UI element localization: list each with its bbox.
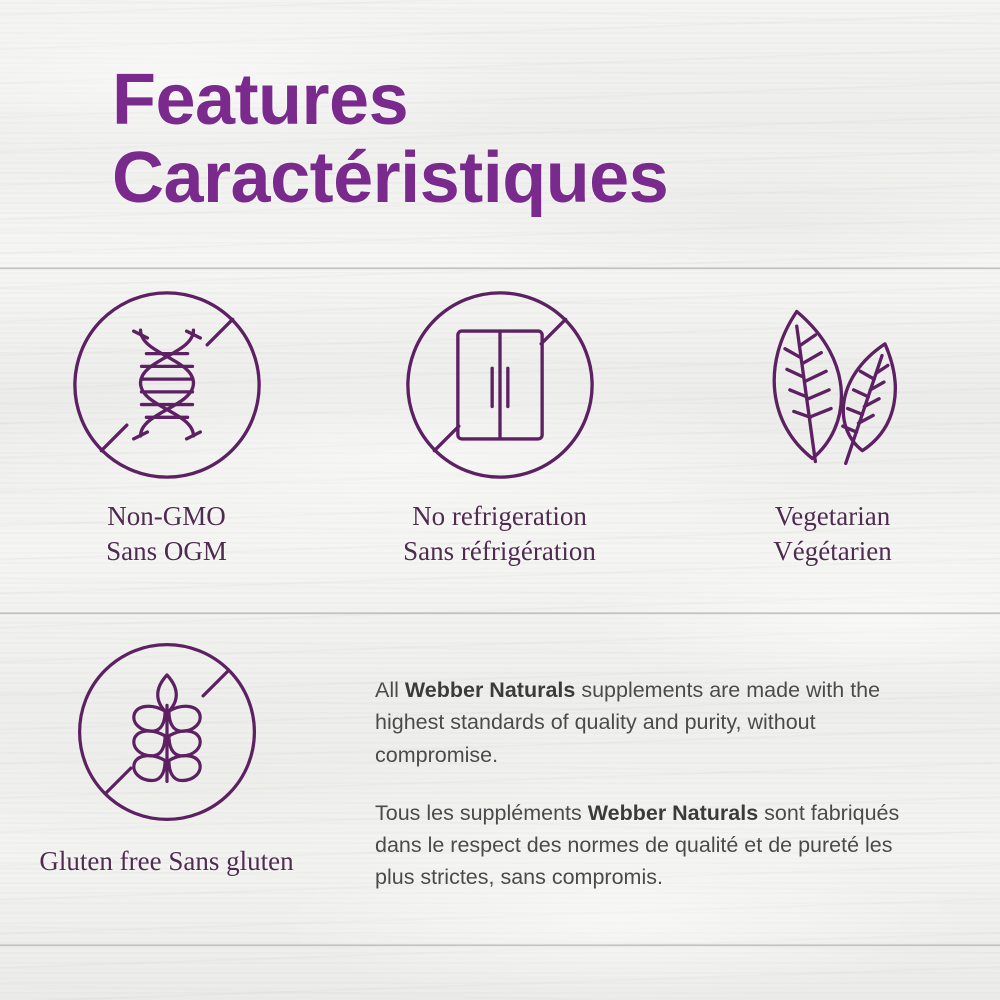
vegetarian-leaves-icon [733,285,933,485]
feature-label-fr: Sans OGM [106,534,227,569]
feature-row-top: Non-GMO Sans OGM [0,285,1000,595]
no-refrigeration-fridge-icon [400,285,600,485]
feature-caption: No refrigeration Sans réfrigération [403,499,596,568]
feature-gluten-free: Gluten free Sans gluten [0,632,333,942]
paragraph-en-before: All [375,678,405,702]
plank-divider-top [0,267,1000,270]
feature-label-en: Non-GMO [106,499,227,534]
feature-row-bottom: Gluten free Sans gluten All Webber Natur… [0,632,1000,942]
quality-statement-english: All Webber Naturals supplements are made… [375,674,922,771]
page-title-french: Caractéristiques [112,144,668,213]
feature-label-en: Gluten free [39,846,161,876]
features-panel: Features Caractéristiques [0,0,1000,1000]
plank-divider-middle [0,612,1000,615]
no-gmo-dna-icon [67,285,267,485]
feature-non-gmo: Non-GMO Sans OGM [0,285,333,595]
feature-label-en: No refrigeration [403,499,596,534]
gluten-free-wheat-icon [67,632,267,832]
page-title: Features Caractéristiques [112,66,668,213]
page-title-english: Features [112,66,668,135]
quality-statement-french: Tous les suppléments Webber Naturals son… [375,797,922,894]
feature-caption: Non-GMO Sans OGM [106,499,227,568]
feature-label-en: Vegetarian [773,499,891,534]
feature-caption: Vegetarian Végétarien [773,499,891,568]
feature-label-fr: Sans gluten [168,846,293,876]
brand-name-en: Webber Naturals [405,678,575,702]
feature-label-fr: Végétarien [773,534,891,569]
feature-caption: Gluten free Sans gluten [39,844,293,879]
paragraph-fr-before: Tous les suppléments [375,801,588,825]
plank-divider-bottom [0,944,1000,947]
feature-no-refrigeration: No refrigeration Sans réfrigération [333,285,666,595]
brand-name-fr: Webber Naturals [588,801,758,825]
feature-label-fr: Sans réfrigération [403,534,596,569]
quality-statement: All Webber Naturals supplements are made… [333,632,1000,942]
feature-vegetarian: Vegetarian Végétarien [666,285,999,595]
